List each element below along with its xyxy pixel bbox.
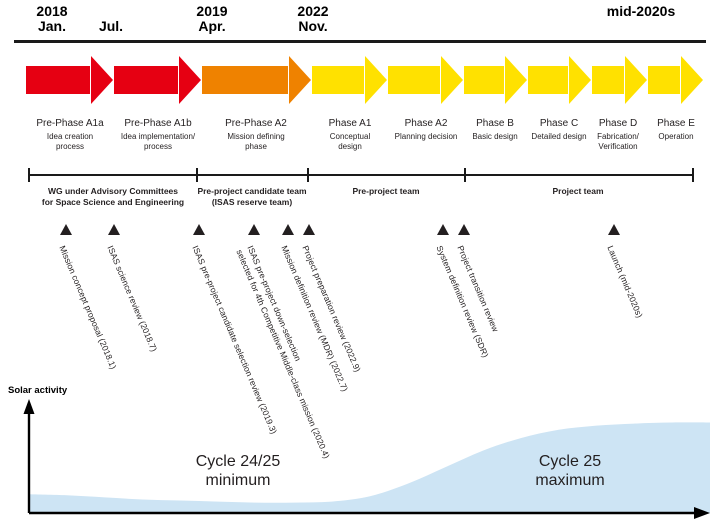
phase-arrow-body	[528, 66, 568, 94]
team-bracket-tick	[692, 168, 694, 182]
phase-arrow-body	[388, 66, 440, 94]
phase-name: Pre-Phase A1a	[24, 118, 116, 129]
phase-arrow-head-icon	[441, 56, 463, 104]
date-label: Jul.	[87, 19, 135, 34]
phase-caption: Pre-Phase A1aIdea creationprocess	[24, 118, 116, 152]
phase-arrow-body	[592, 66, 624, 94]
phase-caption: Pre-Phase A2Mission definingphase	[204, 118, 308, 152]
phase-caption: Phase A1Conceptualdesign	[311, 118, 389, 152]
phase-arrow-body	[26, 66, 90, 94]
phase-arrow-head-icon	[569, 56, 591, 104]
milestone-marker-icon	[458, 224, 470, 235]
date-month: mid-2020s	[591, 4, 691, 19]
phase-arrow-head-icon	[179, 56, 201, 104]
phase-name: Phase B	[462, 118, 528, 129]
solar-cycle-label: Cycle 25maximum	[480, 452, 660, 490]
phase-name: Pre-Phase A2	[204, 118, 308, 129]
phase-caption: Phase BBasic design	[462, 118, 528, 142]
team-label: WG under Advisory Committeesfor Space Sc…	[22, 186, 204, 208]
date-year: 2018	[28, 4, 76, 19]
team-bracket-tick	[28, 168, 30, 182]
milestone-marker-icon	[608, 224, 620, 235]
timeline-axis-rule	[14, 40, 706, 43]
milestone-label: Launch (mid-2020s)	[605, 244, 644, 319]
date-label: 2019 Apr.	[188, 4, 236, 34]
phase-name: Pre-Phase A1b	[112, 118, 204, 129]
phase-name: Phase D	[586, 118, 650, 129]
phase-arrow	[26, 56, 112, 104]
milestone-marker-icon	[60, 224, 72, 235]
phase-description: Fabrication/Verification	[586, 132, 650, 152]
phase-description: Detailed design	[526, 132, 592, 142]
phase-name: Phase E	[645, 118, 707, 129]
milestone-marker-icon	[282, 224, 294, 235]
phase-arrow-body	[312, 66, 364, 94]
phase-description: Mission definingphase	[204, 132, 308, 152]
phase-arrow-head-icon	[505, 56, 527, 104]
milestone-marker-icon	[108, 224, 120, 235]
phase-arrow	[312, 56, 386, 104]
team-bracket-line	[28, 174, 692, 176]
phase-arrow-head-icon	[625, 56, 647, 104]
phase-arrow	[388, 56, 462, 104]
phase-caption: Pre-Phase A1bIdea implementation/process	[112, 118, 204, 152]
team-label: Pre-project candidate team(ISAS reserve …	[196, 186, 308, 208]
date-label: 2018 Jan.	[28, 4, 76, 34]
team-bracket-tick	[196, 168, 198, 182]
milestone-marker-icon	[303, 224, 315, 235]
date-month: Apr.	[188, 19, 236, 34]
team-bracket-tick	[464, 168, 466, 182]
phase-description: Basic design	[462, 132, 528, 142]
phase-arrow	[648, 56, 702, 104]
date-label-mid2020s: mid-2020s	[591, 4, 691, 19]
phase-description: Operation	[645, 132, 707, 142]
phase-description: Idea implementation/process	[112, 132, 204, 152]
milestone-label: ISAS science review (2018.7)	[105, 244, 159, 353]
phase-description: Planning decision	[387, 132, 465, 142]
y-axis-arrowhead	[24, 399, 35, 414]
phase-arrow-head-icon	[681, 56, 703, 104]
milestone-label: Mission concept proposal (2018.1)	[57, 244, 118, 371]
timeline-diagram: 2018 Jan. Jul. 2019 Apr. 2022 Nov. mid-2…	[0, 0, 720, 520]
phase-arrow	[592, 56, 646, 104]
phase-arrow	[114, 56, 200, 104]
phase-caption: Phase CDetailed design	[526, 118, 592, 142]
milestone-marker-icon	[437, 224, 449, 235]
phase-caption: Phase DFabrication/Verification	[586, 118, 650, 152]
team-label: Project team	[464, 186, 692, 197]
phase-name: Phase A1	[311, 118, 389, 129]
milestone-marker-icon	[248, 224, 260, 235]
phase-name: Phase A2	[387, 118, 465, 129]
milestone-marker-icon	[193, 224, 205, 235]
date-year: 2022	[289, 4, 337, 19]
date-month: Jul.	[87, 19, 135, 34]
phase-arrow	[464, 56, 526, 104]
date-month: Jan.	[28, 19, 76, 34]
phase-description: Idea creationprocess	[24, 132, 116, 152]
phase-arrow-body	[114, 66, 178, 94]
phase-arrow-body	[648, 66, 680, 94]
team-bracket-tick	[307, 168, 309, 182]
phase-caption: Phase EOperation	[645, 118, 707, 142]
date-label: 2022 Nov.	[289, 4, 337, 34]
phase-arrow-head-icon	[91, 56, 113, 104]
phase-arrow-head-icon	[289, 56, 311, 104]
phase-description: Conceptualdesign	[311, 132, 389, 152]
phase-arrow	[202, 56, 310, 104]
date-month: Nov.	[289, 19, 337, 34]
phase-arrow-head-icon	[365, 56, 387, 104]
phase-arrow-body	[464, 66, 504, 94]
date-year: 2019	[188, 4, 236, 19]
phase-name: Phase C	[526, 118, 592, 129]
phase-arrow	[528, 56, 590, 104]
phase-caption: Phase A2Planning decision	[387, 118, 465, 142]
phase-arrow-body	[202, 66, 288, 94]
team-label: Pre-project team	[307, 186, 465, 197]
solar-cycle-label: Cycle 24/25minimum	[148, 452, 328, 490]
